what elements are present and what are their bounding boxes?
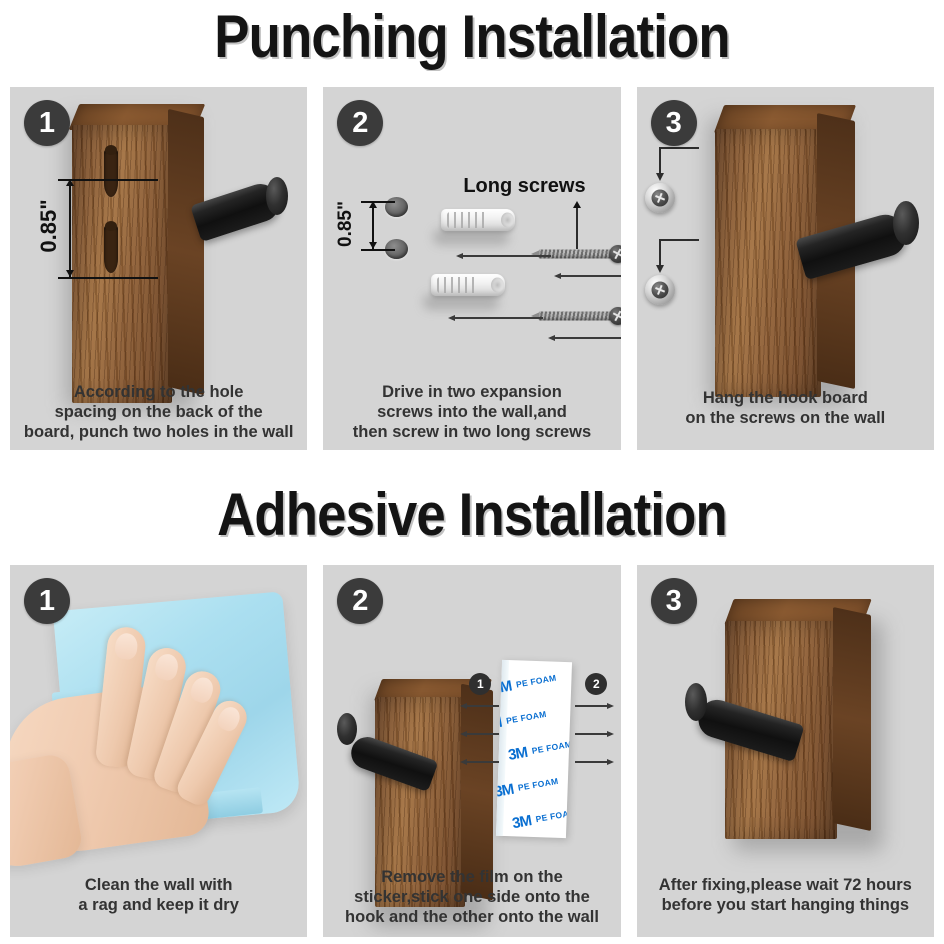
step-badge-adhesive-2: 2 bbox=[337, 578, 383, 624]
caption-line: Clean the wall with bbox=[16, 875, 301, 895]
step-panel-adhesive-2: 3M PE FOAM 3M PE FOAM 3M PE FOAM 3M bbox=[323, 565, 620, 937]
caption-line: After fixing,please wait 72 hours bbox=[643, 875, 928, 895]
caption-line: screws into the wall,and bbox=[329, 402, 614, 422]
motion-arrow-anchor-upper bbox=[463, 255, 551, 257]
dimension-extension-line-top bbox=[361, 201, 395, 203]
pad-brand-row: 3M PE FOAM bbox=[496, 700, 572, 735]
arrowhead bbox=[607, 703, 614, 709]
brand-3m-text: 3M bbox=[496, 678, 512, 698]
adhesive-arrow-right-3 bbox=[575, 761, 607, 763]
arrowhead bbox=[460, 703, 467, 709]
long-screws-label: Long screws bbox=[463, 175, 585, 198]
step-panel-adhesive-3: 3 After fixing,please wait 72 hours befo… bbox=[637, 565, 934, 937]
screw-shaft bbox=[539, 249, 610, 258]
section-title-punching: Punching Installation bbox=[57, 2, 888, 72]
caption-line: Drive in two expansion bbox=[329, 382, 614, 402]
step-badge-adhesive-3: 3 bbox=[651, 578, 697, 624]
step-caption-adhesive-1: Clean the wall with a rag and keep it dr… bbox=[10, 875, 307, 915]
dimension-arrow-up bbox=[369, 201, 377, 208]
motion-arrow-anchor-lower bbox=[455, 317, 543, 319]
step-badge-adhesive-1: 1 bbox=[24, 578, 70, 624]
anchor-ribs bbox=[447, 212, 488, 229]
long-screws-callout-line bbox=[576, 205, 578, 249]
step-panel-adhesive-1: 1 Clean the wall with a rag and keep it … bbox=[10, 565, 307, 937]
pad-brand-row: 3M PE FOAM bbox=[501, 834, 573, 839]
adhesive-steps-row: 1 Clean the wall with a rag and keep it … bbox=[10, 565, 934, 937]
lead-line-horizontal bbox=[659, 147, 699, 149]
arrowhead bbox=[456, 253, 463, 259]
step-badge-punching-2: 2 bbox=[337, 100, 383, 146]
step-panel-punching-3: 3 Hang the hook board on the screws on t… bbox=[637, 87, 934, 450]
black-hook-peg-cap bbox=[266, 177, 288, 215]
lead-line-vertical bbox=[659, 147, 661, 175]
black-hook-peg-cap bbox=[337, 713, 357, 745]
adhesive-arrow-left-3 bbox=[467, 761, 499, 763]
pad-brand-row: 3M PE FOAM bbox=[496, 666, 572, 701]
step-caption-punching-3: Hang the hook board on the screws on the… bbox=[637, 388, 934, 428]
brand-3m-text: 3M bbox=[507, 744, 529, 764]
caption-line: spacing on the back of the bbox=[16, 402, 301, 422]
caption-line: hook and the other onto the wall bbox=[329, 907, 614, 927]
caption-line: then screw in two long screws bbox=[329, 422, 614, 442]
wood-block-side-face bbox=[833, 607, 871, 831]
arrowhead bbox=[448, 315, 455, 321]
arrowhead bbox=[460, 759, 467, 765]
dimension-extension-line-bottom bbox=[58, 277, 158, 279]
arrowhead bbox=[554, 273, 561, 279]
fingernail bbox=[114, 632, 139, 660]
anchor-mouth bbox=[491, 278, 504, 293]
arrowhead bbox=[607, 731, 614, 737]
caption-line: a rag and keep it dry bbox=[16, 895, 301, 915]
screw-head bbox=[609, 245, 620, 263]
dimension-extension-line-bottom bbox=[361, 249, 395, 251]
long-screws-callout-arrow bbox=[573, 201, 581, 208]
screw-head bbox=[609, 307, 620, 325]
lead-arrowhead bbox=[656, 173, 664, 181]
dimension-arrow-down bbox=[369, 242, 377, 249]
anchor-shadow-upper bbox=[433, 229, 509, 245]
screw-cross-slot bbox=[657, 285, 663, 295]
anchor-mouth bbox=[501, 213, 514, 228]
dimension-annotation-punching-2: 0.85" bbox=[331, 199, 401, 255]
punching-steps-row: 0.85" 1 According to the hole spacing on… bbox=[10, 87, 934, 450]
screw-cross-slot bbox=[657, 193, 663, 203]
anchor-ribs bbox=[437, 277, 478, 294]
caption-line: on the screws on the wall bbox=[643, 408, 928, 428]
step-caption-adhesive-2: Remove the film on the sticker,stick one… bbox=[323, 867, 620, 927]
step-caption-punching-1: According to the hole spacing on the bac… bbox=[10, 382, 307, 442]
adhesive-arrow-right-1 bbox=[575, 705, 607, 707]
step-panel-punching-1: 0.85" 1 According to the hole spacing on… bbox=[10, 87, 307, 450]
arrowhead bbox=[607, 759, 614, 765]
motion-arrow-screw-upper bbox=[561, 275, 620, 277]
caption-line: board, punch two holes in the wall bbox=[16, 422, 301, 442]
brand-3m-text: 3M bbox=[496, 714, 502, 734]
callout-pip-2: 2 bbox=[585, 673, 607, 695]
screw-lead-arrow-upper bbox=[659, 147, 699, 179]
adhesive-pad-3m: 3M PE FOAM 3M PE FOAM 3M PE FOAM 3M bbox=[496, 660, 572, 838]
long-screw-upper bbox=[539, 247, 620, 260]
wood-block-side-face bbox=[168, 109, 204, 395]
anchor-shadow-lower bbox=[423, 294, 499, 310]
arrowhead bbox=[548, 335, 555, 341]
dimension-label-punching-2: 0.85" bbox=[335, 195, 357, 253]
long-screw-lower bbox=[539, 309, 620, 322]
brand-material-text: PE FOAM bbox=[535, 808, 573, 825]
adhesive-arrow-left-2 bbox=[467, 733, 499, 735]
dimension-arrow-up bbox=[66, 179, 74, 186]
pad-brand-row: 3M PE FOAM bbox=[496, 733, 572, 768]
lead-line-vertical bbox=[659, 239, 661, 267]
step-badge-punching-1: 1 bbox=[24, 100, 70, 146]
dimension-label-punching-1: 0.85" bbox=[36, 191, 62, 261]
brand-material-text: PE FOAM bbox=[505, 710, 547, 727]
step-badge-punching-3: 3 bbox=[651, 100, 697, 146]
fingernail bbox=[188, 675, 216, 705]
adhesive-arrow-right-2 bbox=[575, 733, 607, 735]
lead-arrowhead bbox=[656, 265, 664, 273]
caption-line: sticker,stick one side onto the bbox=[329, 887, 614, 907]
dimension-measure-line bbox=[69, 181, 71, 277]
caption-line: Remove the film on the bbox=[329, 867, 614, 887]
lead-line-horizontal bbox=[659, 239, 699, 241]
pad-brand-row: 3M PE FOAM bbox=[496, 660, 572, 668]
step-caption-adhesive-3: After fixing,please wait 72 hours before… bbox=[637, 875, 934, 915]
adhesive-arrow-left-1 bbox=[467, 705, 499, 707]
step-caption-punching-2: Drive in two expansion screws into the w… bbox=[323, 382, 620, 442]
pad-brand-row: 3M PE FOAM bbox=[496, 767, 572, 802]
arrowhead bbox=[460, 731, 467, 737]
expansion-anchor-upper bbox=[441, 209, 515, 231]
wall-screw-upper bbox=[645, 183, 675, 213]
section-title-adhesive: Adhesive Installation bbox=[57, 480, 888, 550]
caption-line: According to the hole bbox=[16, 382, 301, 402]
pad-brand-row: 3M PE FOAM bbox=[496, 800, 572, 835]
caption-line: Hang the hook board bbox=[643, 388, 928, 408]
brand-material-text: PE FOAM bbox=[517, 777, 559, 794]
brand-material-text: PE FOAM bbox=[515, 673, 557, 690]
dimension-annotation-punching-1: 0.85" bbox=[20, 177, 150, 281]
black-hook-peg-cap bbox=[893, 201, 919, 245]
brand-3m-text: 3M bbox=[511, 812, 533, 832]
brand-material-text: PE FOAM bbox=[531, 740, 572, 757]
step-panel-punching-2: Long screws 0.85" bbox=[323, 87, 620, 450]
dimension-arrow-down bbox=[66, 270, 74, 277]
screw-lead-arrow-lower bbox=[659, 239, 699, 271]
caption-line: before you start hanging things bbox=[643, 895, 928, 915]
brand-3m-text: 3M bbox=[496, 781, 514, 801]
adhesive-pad-branding: 3M PE FOAM 3M PE FOAM 3M PE FOAM 3M bbox=[496, 660, 572, 838]
wall-screw-lower bbox=[645, 275, 675, 305]
motion-arrow-screw-lower bbox=[555, 337, 620, 339]
fingernail bbox=[153, 652, 180, 682]
screw-shaft bbox=[539, 311, 610, 320]
instruction-infographic: Punching Installation bbox=[0, 0, 944, 944]
black-hook-peg-cap bbox=[685, 683, 707, 721]
expansion-anchor-lower bbox=[431, 274, 505, 296]
fingernail bbox=[215, 704, 243, 734]
